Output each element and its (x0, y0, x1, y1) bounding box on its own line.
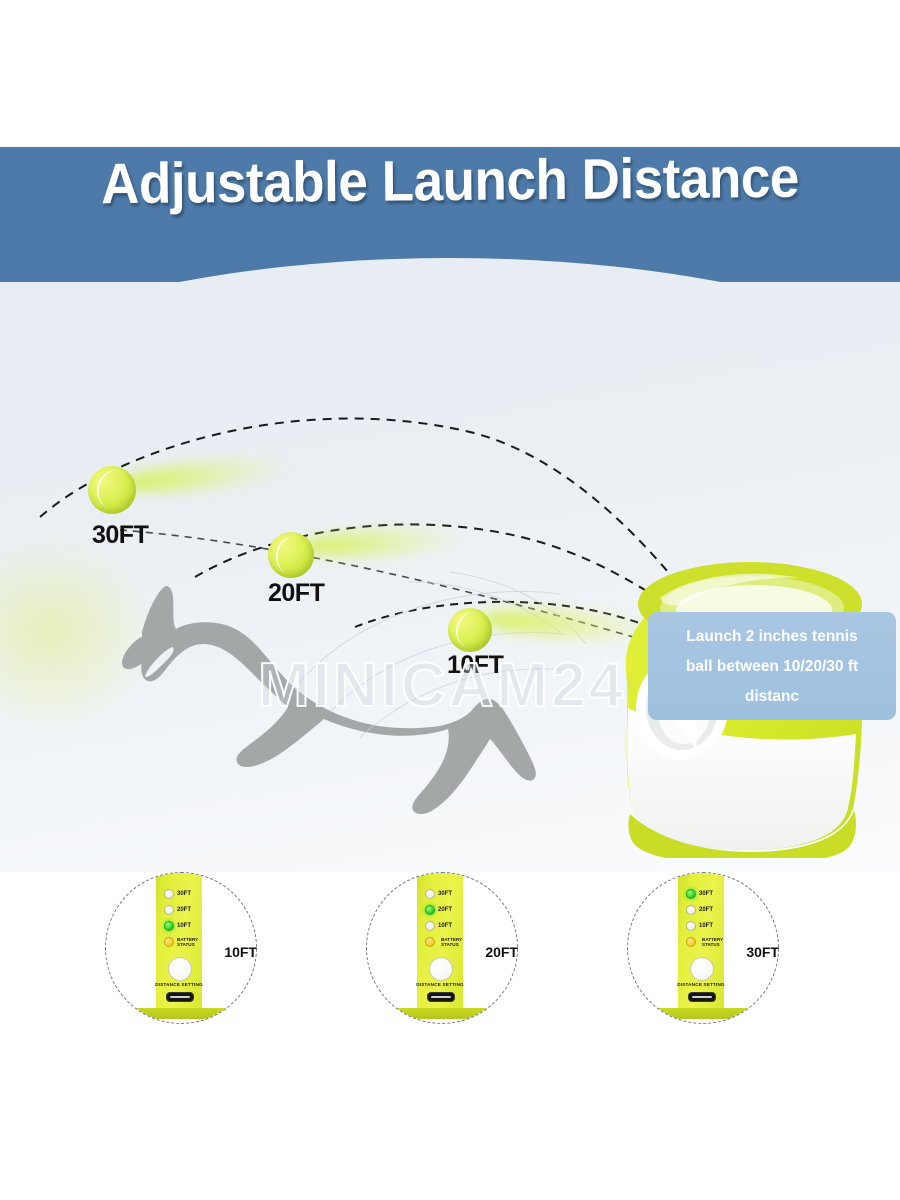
led-20ft (425, 905, 435, 915)
usb-port-icon (688, 992, 716, 1002)
led-20ft (164, 905, 174, 915)
distance-setting-label: DISTANCE SETTING (416, 982, 464, 987)
led-30ft (425, 889, 435, 899)
callout-line-3: distanc (648, 682, 896, 712)
panel-base (652, 1008, 752, 1019)
control-panel-20ft: 30FT 20FT 10FT BATTERY STATUS (417, 872, 463, 1013)
distance-label-20ft: 20FT (268, 579, 324, 608)
callout-box: Launch 2 inches tennis ball between 10/2… (648, 612, 896, 720)
inset-label-30ft: 30FT (746, 944, 779, 960)
led-label-status: STATUS (441, 942, 462, 947)
led-label-30ft: 30FT (438, 891, 452, 897)
distance-label-30ft: 30FT (92, 521, 148, 550)
led-label-20ft: 20FT (177, 907, 191, 913)
tennis-ball-10ft (448, 608, 492, 652)
led-label-20ft: 20FT (438, 907, 452, 913)
led-10ft (686, 921, 696, 931)
led-label-10ft: 10FT (177, 923, 191, 929)
led-30ft (164, 889, 174, 899)
led-label-20ft: 20FT (699, 907, 713, 913)
usb-port-icon (166, 992, 194, 1002)
inset-label-20ft: 20FT (485, 944, 518, 960)
scene-illustration: 30FT 20FT 10FT MINICAM24 (0, 282, 900, 872)
header-banner: Adjustable Launch Distance (0, 147, 900, 282)
control-panel-10ft: 30FT 20FT 10FT BATTERY STATUS (156, 872, 202, 1013)
distance-setting-label: DISTANCE SETTING (155, 982, 203, 987)
led-battery-status (686, 937, 696, 947)
led-label-status: STATUS (177, 942, 198, 947)
led-label-30ft: 30FT (699, 891, 713, 897)
inset-label-10ft: 10FT (224, 944, 257, 960)
led-10ft (425, 921, 435, 931)
product-infographic: Adjustable Launch Distance (0, 0, 900, 1200)
callout-line-2: ball between 10/20/30 ft (648, 652, 896, 682)
distance-label-10ft: 10FT (447, 651, 503, 680)
usb-port-icon (427, 992, 455, 1002)
led-label-10ft: 10FT (438, 923, 452, 929)
inset-20ft: 30FT 20FT 10FT BATTERY STATUS (366, 872, 522, 1044)
distance-setting-button[interactable] (429, 957, 453, 981)
control-panel-insets: 30FT 20FT 10FT BATTERY STATUS (0, 872, 900, 1052)
callout-line-1: Launch 2 inches tennis (648, 622, 896, 652)
panel-base (130, 1008, 230, 1019)
led-battery-status (425, 937, 435, 947)
tennis-ball-30ft (88, 466, 136, 514)
inset-10ft: 30FT 20FT 10FT BATTERY STATUS (105, 872, 261, 1044)
led-label-30ft: 30FT (177, 891, 191, 897)
panel-base (391, 1008, 491, 1019)
control-panel-30ft: 30FT 20FT 10FT BATTERY STATUS (678, 872, 724, 1013)
led-battery-status (164, 937, 174, 947)
led-label-status: STATUS (702, 942, 723, 947)
led-30ft (686, 889, 696, 899)
inset-30ft: 30FT 20FT 10FT BATTERY STATUS (627, 872, 783, 1044)
distance-setting-button[interactable] (690, 957, 714, 981)
tennis-ball-20ft (268, 532, 314, 578)
led-label-10ft: 10FT (699, 923, 713, 929)
distance-setting-label: DISTANCE SETTING (677, 982, 725, 987)
led-10ft (164, 921, 174, 931)
distance-setting-button[interactable] (168, 957, 192, 981)
led-20ft (686, 905, 696, 915)
page-title: Adjustable Launch Distance (31, 149, 868, 214)
